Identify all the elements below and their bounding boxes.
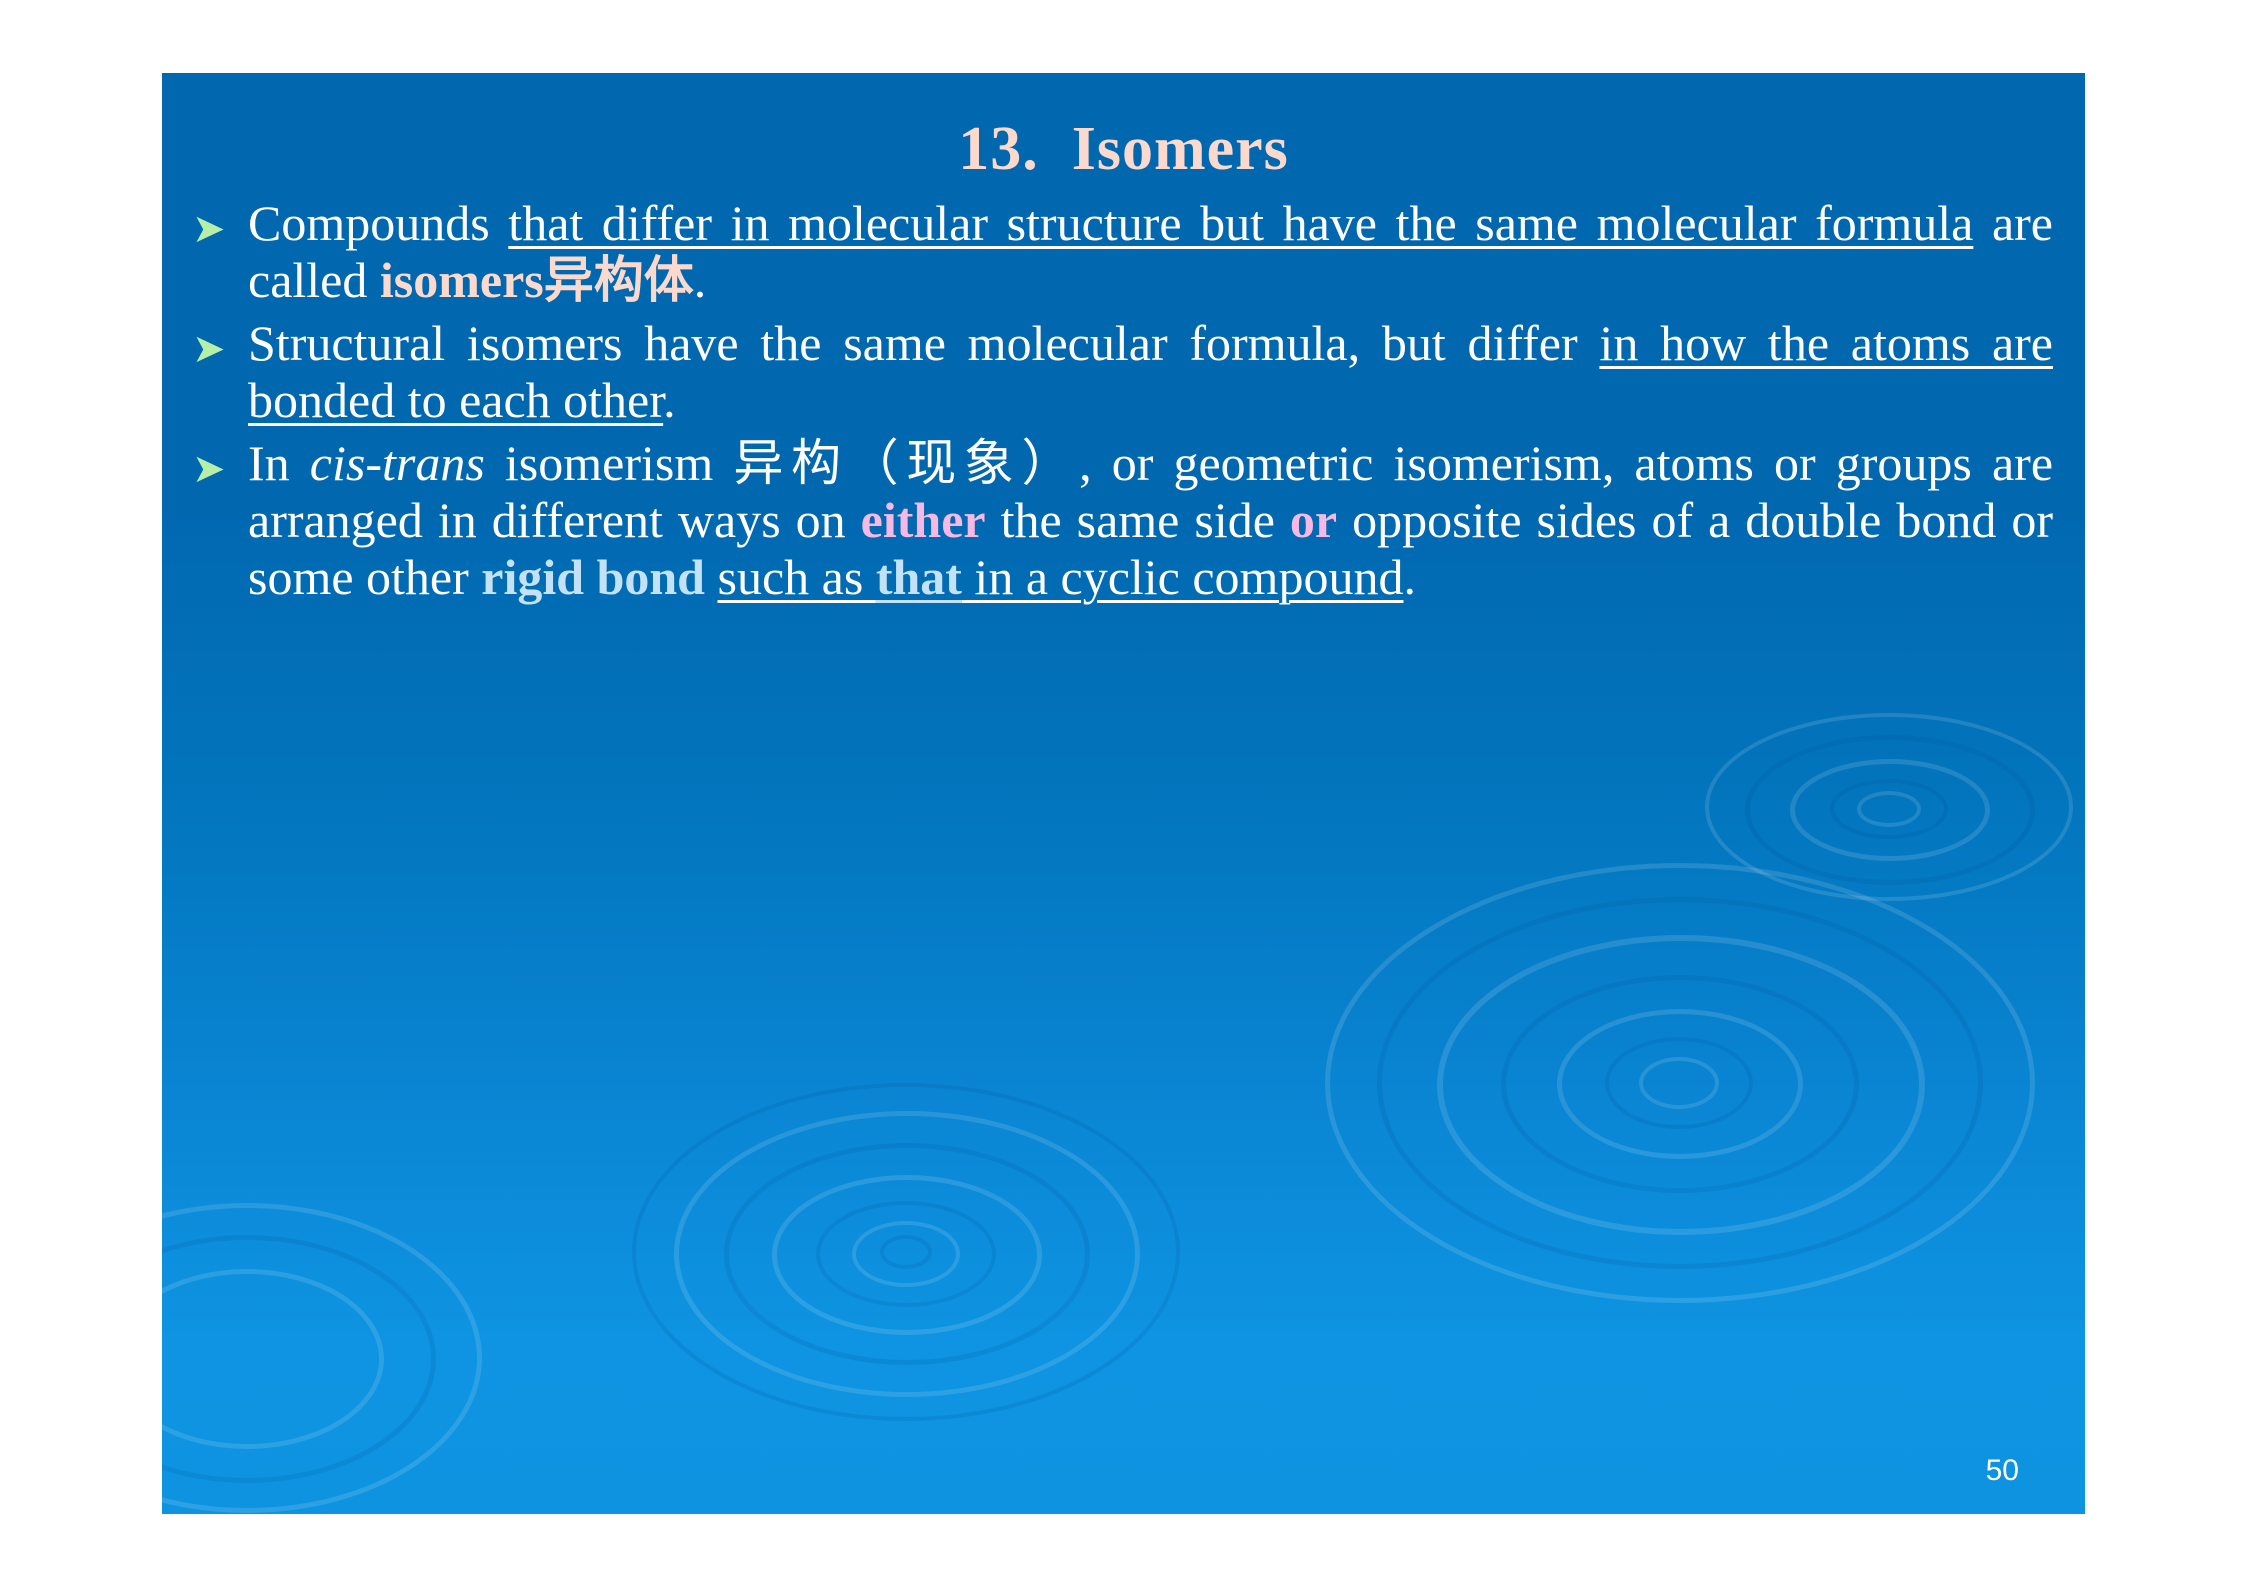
- term-either: either: [861, 492, 986, 548]
- text-lead: Compounds: [248, 195, 508, 251]
- text-tail: .: [694, 252, 707, 308]
- term-or: or: [1290, 492, 1337, 548]
- bullet-cis-trans: In cis-trans isomerism 异构（现象）, or geomet…: [248, 435, 2053, 606]
- bullet-isomers-definition: Compounds that differ in molecular struc…: [248, 195, 2053, 309]
- text-underlined: that differ in molecular structure but h…: [508, 195, 1973, 251]
- text-tail: .: [663, 372, 676, 428]
- term-isomers: isomers异构体: [380, 252, 694, 308]
- arrow-bullet-icon: ➤: [192, 195, 248, 256]
- list-item: ➤ In cis-trans isomerism 异构（现象）, or geom…: [192, 435, 2053, 606]
- term-rigid-bond: rigid bond: [481, 549, 705, 605]
- ripple-decoration-left: [162, 1203, 472, 1503]
- presentation-slide: 13. Isomers ➤ Compounds that differ in m…: [162, 73, 2085, 1514]
- text-after-italic: isomerism: [485, 435, 734, 491]
- bullet-list: ➤ Compounds that differ in molecular str…: [192, 195, 2053, 612]
- bullet-structural-isomers: Structural isomers have the same molecul…: [248, 315, 2053, 429]
- ripple-decoration-mid-right: [1325, 863, 2025, 1293]
- term-cis-trans: cis-trans: [310, 435, 485, 491]
- page-number: 50: [1986, 1454, 2019, 1488]
- text-lead: In: [248, 435, 310, 491]
- page-title: 13. Isomers: [162, 115, 2085, 183]
- text-seg-2: the same side: [986, 492, 1290, 548]
- arrow-bullet-icon: ➤: [192, 315, 248, 376]
- list-item: ➤ Structural isomers have the same molec…: [192, 315, 2053, 429]
- term-that: that: [876, 549, 962, 605]
- ripple-decoration-center: [632, 1083, 1172, 1413]
- text-underlined-such-as: such as: [718, 549, 876, 605]
- list-item: ➤ Compounds that differ in molecular str…: [192, 195, 2053, 309]
- text-tail: .: [1403, 549, 1416, 605]
- text-lead: Structural isomers have the same molecul…: [248, 315, 1599, 371]
- term-cjk-isomerism: 异构（现象）: [733, 434, 1079, 492]
- arrow-bullet-icon: ➤: [192, 435, 248, 496]
- text-underlined-tail: in a cyclic compound: [962, 549, 1404, 605]
